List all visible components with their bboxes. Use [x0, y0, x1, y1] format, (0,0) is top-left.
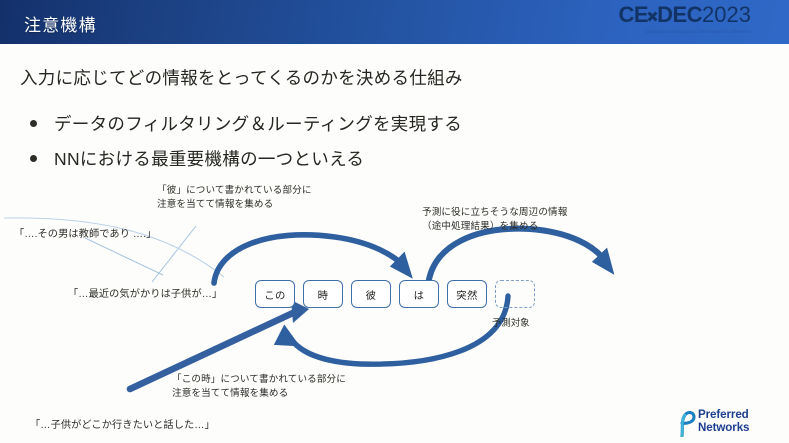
diagram-arrows — [0, 176, 789, 443]
bullet-item-1: NNにおける最重要機構の一つといえる — [30, 146, 364, 171]
annotation-left-line-0: 「彼」について書かれている部分に — [157, 184, 312, 198]
prediction-target-label: 予測対象 — [492, 315, 530, 329]
token-box-0[interactable]: この — [255, 280, 295, 308]
bullet-item-0: データのフィルタリング＆ルーティングを実現する — [30, 111, 462, 136]
token-box-blank-prediction[interactable] — [495, 280, 535, 308]
leader-line-quote1 — [85, 238, 163, 275]
cedec-subtitle: Computer Entertainment Developers Confer… — [601, 29, 751, 34]
annotation-right-line-0: 予測に役に立ちそうな周辺の情報 — [422, 206, 567, 220]
annotation-left-line-1: 注意を当てて情報を集める — [157, 198, 312, 212]
annotation-bottom: 「この時」について書かれている部分に 注意を当てて情報を集める — [172, 373, 346, 401]
cedec-logo: CEDEC2023 Computer Entertainment Develop… — [601, 2, 751, 42]
annotation-right: 予測に役に立ちそうな周辺の情報 （途中処理結果）を集める — [422, 206, 567, 234]
pfn-wordmark-line-1: Networks — [698, 422, 749, 435]
token-box-3[interactable]: は — [399, 280, 439, 308]
slide-canvas: 注意機構 CEDEC2023 Computer Entertainment De… — [0, 0, 789, 443]
arrow-right-curve — [428, 229, 606, 286]
arrow-left-head — [390, 249, 422, 279]
arrow-left-curve — [214, 235, 404, 283]
token-box-1[interactable]: 時 — [303, 280, 343, 308]
token-box-4[interactable]: 突然 — [447, 280, 487, 308]
context-quote-2: 「…子供がどこか行きたいと話した…」 — [30, 416, 215, 431]
preferred-networks-logo: Preferred Networks — [676, 409, 780, 437]
cedec-brand-dec: DEC — [657, 2, 702, 27]
token-sequence: この 時 彼 は 突然 — [255, 280, 535, 308]
cedec-year: 2023 — [702, 2, 751, 27]
cedec-wordmark: CEDEC2023 — [601, 2, 751, 28]
annotation-bottom-line-1: 注意を当てて情報を集める — [172, 387, 346, 401]
bullet-label-0: データのフィルタリング＆ルーティングを実現する — [54, 111, 462, 136]
cedec-brand-ce: CE — [619, 2, 649, 27]
arrow-bottom-head — [274, 323, 304, 350]
annotation-right-line-1: （途中処理結果）を集める — [422, 220, 567, 234]
context-quote-1: 「…最近の気がかりは子供が…」 — [68, 285, 222, 300]
context-quote-0: 「….その男は教師であり ….」 — [14, 225, 156, 240]
pfn-mark-icon — [676, 410, 696, 437]
bullet-dot-icon — [30, 155, 37, 162]
slide-header: 注意機構 CEDEC2023 Computer Entertainment De… — [0, 0, 789, 44]
annotation-bottom-line-0: 「この時」について書かれている部分に — [172, 373, 346, 387]
pfn-wordmark-line-0: Preferred — [698, 409, 749, 422]
cedec-x-icon — [647, 11, 658, 22]
attention-diagram: 「彼」について書かれている部分に 注意を当てて情報を集める 予測に役に立ちそうな… — [0, 176, 789, 443]
bullet-dot-icon — [30, 120, 37, 127]
bullet-label-1: NNにおける最重要機構の一つといえる — [54, 146, 364, 171]
pfn-wordmark: Preferred Networks — [698, 409, 749, 434]
token-box-2[interactable]: 彼 — [351, 280, 391, 308]
annotation-left: 「彼」について書かれている部分に 注意を当てて情報を集める — [157, 184, 312, 212]
lead-sentence: 入力に応じてどの情報をとってくるのかを決める仕組み — [20, 65, 463, 90]
page-title: 注意機構 — [24, 11, 97, 36]
